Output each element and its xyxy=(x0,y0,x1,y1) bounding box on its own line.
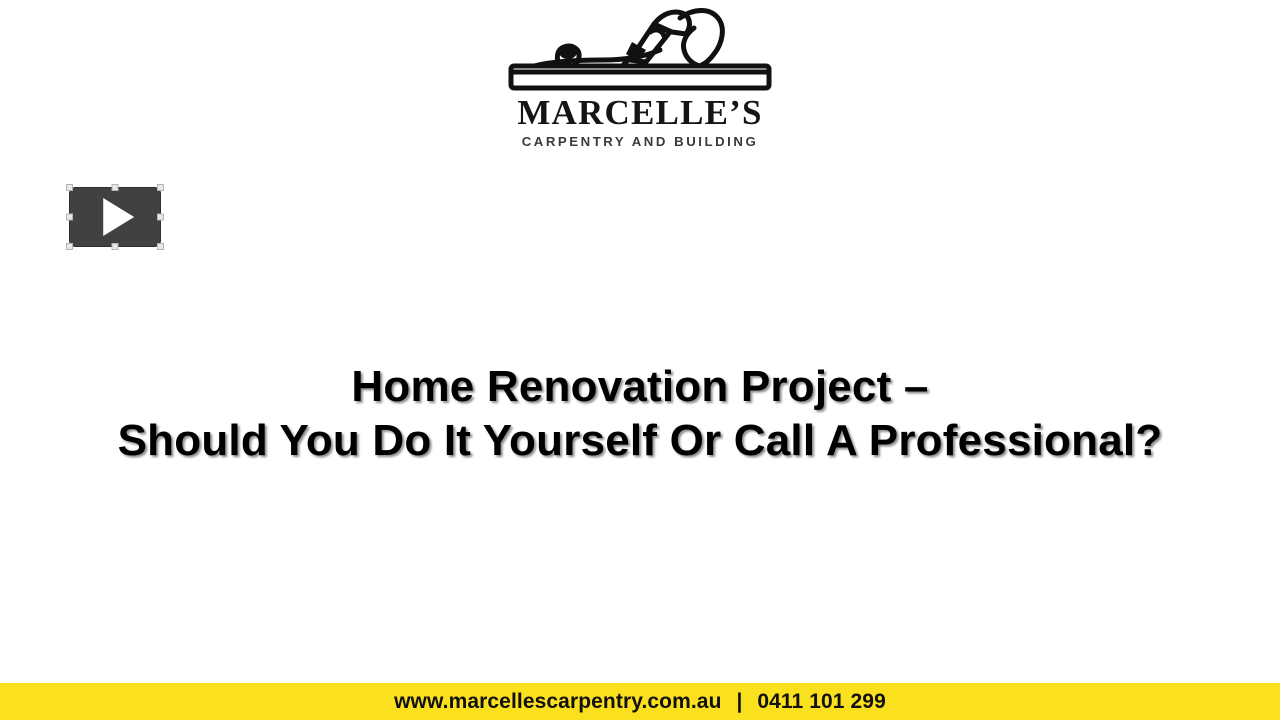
title-line-2: Should You Do It Yourself Or Call A Prof… xyxy=(40,414,1240,468)
resize-handle-top-center[interactable] xyxy=(112,184,119,191)
footer-website[interactable]: www.marcellescarpentry.com.au xyxy=(394,690,721,713)
company-logo: MARCELLE’S CARPENTRY AND BUILDING xyxy=(500,2,780,152)
logo-brand-name: MARCELLE’S xyxy=(500,95,780,131)
resize-handle-bottom-left[interactable] xyxy=(66,243,73,250)
video-frame[interactable] xyxy=(69,187,161,247)
resize-handle-top-right[interactable] xyxy=(157,184,164,191)
footer-contact: www.marcellescarpentry.com.au | 0411 101… xyxy=(394,690,886,714)
footer-bar: www.marcellescarpentry.com.au | 0411 101… xyxy=(0,683,1280,720)
video-placeholder[interactable] xyxy=(66,184,164,250)
title-line-1: Home Renovation Project – xyxy=(40,360,1240,414)
play-triangle-icon[interactable] xyxy=(103,198,134,236)
slide-title: Home Renovation Project – Should You Do … xyxy=(40,360,1240,468)
resize-handle-bottom-center[interactable] xyxy=(112,243,119,250)
resize-handle-middle-right[interactable] xyxy=(157,214,164,221)
resize-handle-middle-left[interactable] xyxy=(66,214,73,221)
presentation-slide: MARCELLE’S CARPENTRY AND BUILDING Home R… xyxy=(0,0,1280,720)
resize-handle-bottom-right[interactable] xyxy=(157,243,164,250)
resize-handle-top-left[interactable] xyxy=(66,184,73,191)
logo-tagline: CARPENTRY AND BUILDING xyxy=(500,134,780,149)
footer-separator: | xyxy=(727,690,751,714)
footer-phone[interactable]: 0411 101 299 xyxy=(757,690,886,713)
hand-plane-icon xyxy=(504,2,776,94)
